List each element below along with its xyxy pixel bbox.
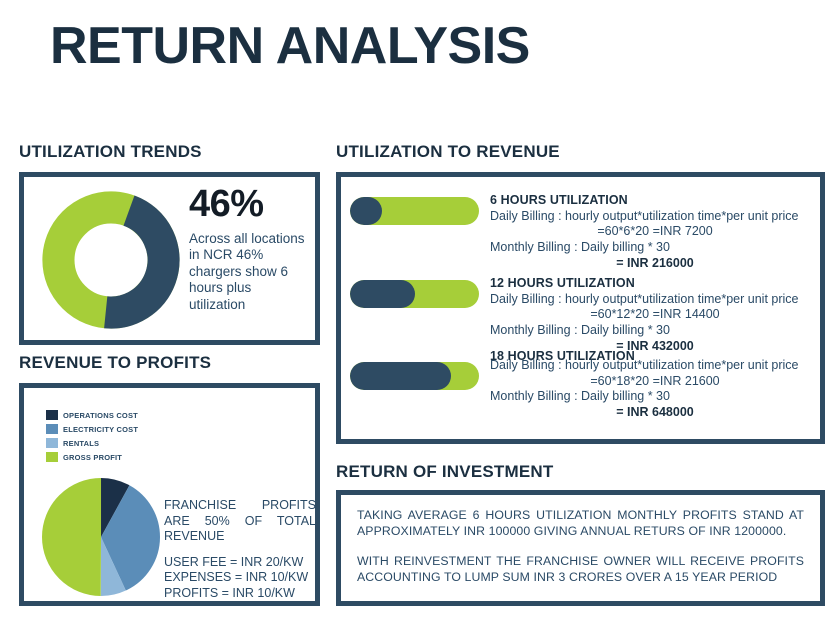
legend-swatch-operations-cost	[46, 410, 58, 420]
utilization-title: 12 HOURS UTILIZATION	[490, 276, 820, 292]
progress-fill-12-hours	[350, 280, 415, 308]
revenue-to-profits-callout: FRANCHISE PROFITS ARE 50% OF TOTAL REVEN…	[164, 498, 316, 601]
legend-item: GROSS PROFIT	[46, 452, 138, 462]
daily-billing-calc: =60*18*20 =INR 21600	[490, 374, 820, 390]
profit-breakdown: USER FEE = INR 20/KW EXPENSES = INR 10/K…	[164, 555, 316, 602]
progress-track-18-hours	[350, 362, 479, 390]
pie-legend: OPERATIONS COST ELECTRICITY COST RENTALS…	[46, 410, 138, 466]
progress-track-12-hours	[350, 280, 479, 308]
progress-track-6-hours	[350, 197, 479, 225]
utilization-details: Daily Billing : hourly output*utilizatio…	[490, 358, 820, 421]
utilization-row: 6 HOURS UTILIZATION Daily Billing : hour…	[350, 193, 820, 271]
legend-label-gross-profit: GROSS PROFIT	[63, 453, 122, 462]
progress-fill-18-hours	[350, 362, 451, 390]
section-heading-utilization-trends: UTILIZATION TRENDS	[19, 142, 202, 162]
legend-label-rentals: RENTALS	[63, 439, 99, 448]
legend-item: ELECTRICITY COST	[46, 424, 138, 434]
utilization-title: 6 HOURS UTILIZATION	[490, 193, 820, 209]
franchise-profit-statement: FRANCHISE PROFITS ARE 50% OF TOTAL REVEN…	[164, 498, 316, 545]
panel-utilization-trends: 46% Across all locations in NCR 46% char…	[19, 172, 320, 345]
daily-billing-label: Daily Billing : hourly output*utilizatio…	[490, 209, 820, 225]
daily-billing-label: Daily Billing : hourly output*utilizatio…	[490, 292, 820, 308]
legend-label-electricity-cost: ELECTRICITY COST	[63, 425, 138, 434]
daily-billing-calc: =60*6*20 =INR 7200	[490, 224, 820, 240]
monthly-billing-label: Monthly Billing : Daily billing * 30	[490, 240, 820, 256]
utilization-details: 6 HOURS UTILIZATION Daily Billing : hour…	[490, 193, 820, 271]
legend-swatch-electricity-cost	[46, 424, 58, 434]
utilization-row: 12 HOURS UTILIZATION Daily Billing : hou…	[350, 276, 820, 354]
progress-fill-6-hours	[350, 197, 382, 225]
panel-utilization-to-revenue: 6 HOURS UTILIZATION Daily Billing : hour…	[336, 172, 825, 444]
donut-callout: 46% Across all locations in NCR 46% char…	[189, 185, 311, 313]
infographic-page: RETURN ANALYSIS UTILIZATION TRENDS 46% A…	[0, 0, 840, 624]
roi-paragraph-1: TAKING AVERAGE 6 HOURS UTILIZATION MONTH…	[357, 508, 804, 540]
daily-billing-calc: =60*12*20 =INR 14400	[490, 307, 820, 323]
panel-return-of-investment: TAKING AVERAGE 6 HOURS UTILIZATION MONTH…	[336, 490, 825, 606]
legend-swatch-gross-profit	[46, 452, 58, 462]
page-title: RETURN ANALYSIS	[50, 18, 530, 75]
legend-swatch-rentals	[46, 438, 58, 448]
pie-chart-revenue-to-profits	[42, 478, 160, 596]
utilization-details: 12 HOURS UTILIZATION Daily Billing : hou…	[490, 276, 820, 354]
monthly-billing-total: = INR 648000	[490, 405, 820, 421]
monthly-billing-label: Monthly Billing : Daily billing * 30	[490, 389, 820, 405]
legend-label-operations-cost: OPERATIONS COST	[63, 411, 138, 420]
daily-billing-label: Daily Billing : hourly output*utilizatio…	[490, 358, 820, 374]
section-heading-utilization-to-revenue: UTILIZATION TO REVENUE	[336, 142, 560, 162]
utilization-description: Across all locations in NCR 46% chargers…	[189, 231, 311, 313]
legend-item: RENTALS	[46, 438, 138, 448]
roi-paragraph-2: WITH REINVESTMENT THE FRANCHISE OWNER WI…	[357, 554, 804, 586]
donut-chart-utilization	[38, 185, 184, 335]
roi-body: TAKING AVERAGE 6 HOURS UTILIZATION MONTH…	[341, 495, 820, 586]
progress-bar-col	[350, 276, 490, 308]
progress-bar-col	[350, 358, 490, 390]
panel-revenue-to-profits: OPERATIONS COST ELECTRICITY COST RENTALS…	[19, 383, 320, 606]
section-heading-return-of-investment: RETURN OF INVESTMENT	[336, 462, 553, 482]
monthly-billing-label: Monthly Billing : Daily billing * 30	[490, 323, 820, 339]
utilization-row: Daily Billing : hourly output*utilizatio…	[350, 358, 820, 421]
legend-item: OPERATIONS COST	[46, 410, 138, 420]
progress-bar-col	[350, 193, 490, 225]
monthly-billing-total: = INR 216000	[490, 256, 820, 272]
section-heading-revenue-to-profits: REVENUE TO PROFITS	[19, 353, 211, 373]
utilization-percent-value: 46%	[189, 185, 311, 223]
